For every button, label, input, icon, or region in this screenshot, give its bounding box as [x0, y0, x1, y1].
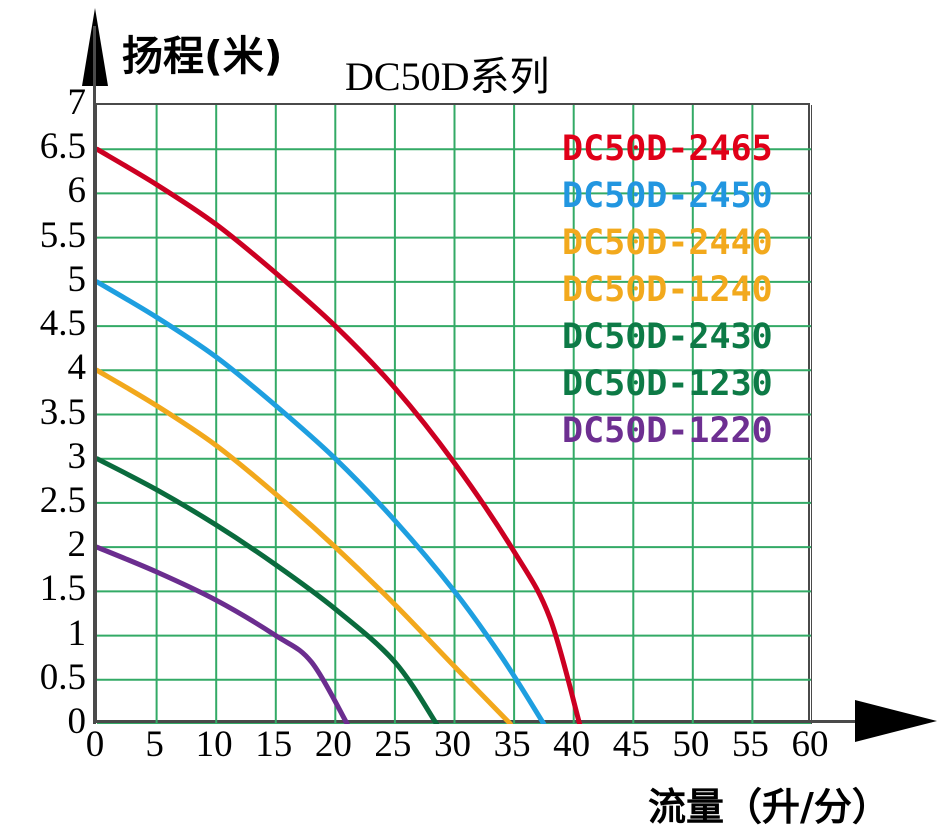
- x-axis-title: 流量（升/分）: [648, 776, 890, 831]
- x-tick-label: 35: [494, 726, 531, 763]
- x-tick-label: 20: [315, 726, 352, 763]
- chart-title: DC50D系列: [345, 44, 549, 102]
- y-tick-label: 1.5: [40, 570, 86, 607]
- y-axis-title: 扬程(米): [122, 22, 282, 82]
- x-tick-label: 60: [792, 726, 829, 763]
- x-tick-label: 45: [613, 726, 650, 763]
- x-tick-label: 10: [196, 726, 233, 763]
- y-tick-label: 3.5: [40, 394, 86, 431]
- x-tick-label: 0: [86, 726, 105, 763]
- x-tick-label: 30: [434, 726, 471, 763]
- y-tick-label: 0.5: [40, 659, 86, 696]
- legend-item: DC50D-2440: [562, 220, 802, 267]
- legend: DC50D-2465DC50D-2450DC50D-2440DC50D-1240…: [562, 126, 802, 455]
- y-tick-label: 6: [68, 172, 87, 209]
- y-axis-tick-labels: 00.511.522.533.544.555.566.57: [0, 0, 86, 820]
- legend-item: DC50D-1220: [562, 408, 802, 455]
- legend-item: DC50D-1230: [562, 361, 802, 408]
- y-tick-label: 4.5: [40, 305, 86, 342]
- x-tick-label: 40: [553, 726, 590, 763]
- legend-item: DC50D-2430: [562, 314, 802, 361]
- y-tick-label: 2.5: [40, 482, 86, 519]
- x-tick-label: 5: [145, 726, 164, 763]
- x-tick-label: 50: [672, 726, 709, 763]
- y-tick-label: 1: [68, 615, 87, 652]
- y-tick-label: 2: [68, 526, 87, 563]
- y-tick-label: 4: [68, 349, 87, 386]
- x-tick-label: 25: [374, 726, 411, 763]
- y-tick-label: 6.5: [40, 128, 86, 165]
- legend-item: DC50D-2450: [562, 173, 802, 220]
- y-tick-label: 5: [68, 261, 87, 298]
- x-tick-label: 15: [255, 726, 292, 763]
- legend-item: DC50D-2465: [562, 126, 802, 173]
- x-tick-label: 55: [732, 726, 769, 763]
- x-axis-tick-labels: 051015202530354045505560: [0, 726, 947, 776]
- y-tick-label: 7: [68, 84, 87, 121]
- y-tick-label: 5.5: [40, 217, 86, 254]
- legend-item: DC50D-1240: [562, 267, 802, 314]
- y-tick-label: 3: [68, 438, 87, 475]
- chart-page: 扬程(米) DC50D系列 00.511.522.533.544.555.566…: [0, 0, 947, 820]
